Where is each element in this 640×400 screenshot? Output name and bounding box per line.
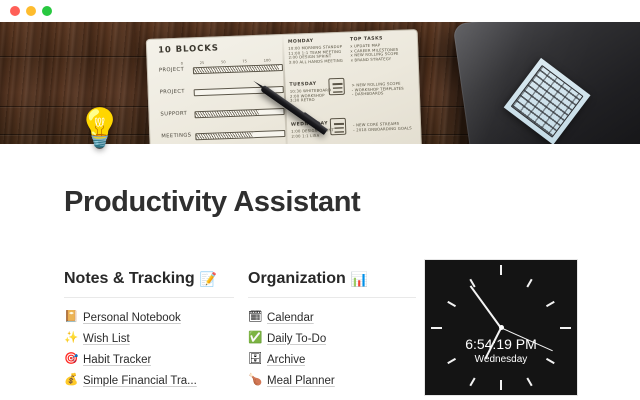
scale-tick: 50 bbox=[221, 60, 226, 65]
clock-minute-hand bbox=[470, 285, 502, 328]
list-item-label[interactable]: Daily To-Do bbox=[267, 333, 326, 345]
notebook-right-page: MONDAY 10:00 MORNING STANDUP 11:00 1:1 T… bbox=[288, 33, 416, 144]
light-bulb-icon: 💡 bbox=[76, 110, 123, 148]
clock-tick-12 bbox=[500, 265, 502, 275]
planner-notebook: 10 BLOCKS 0 25 50 75 100 PROJECT PROJECT… bbox=[146, 29, 423, 144]
task-line: - 2018 ONBOARDING GOALS bbox=[353, 126, 415, 133]
list-item-simple-financial-tracker[interactable]: 💰 Simple Financial Tra... bbox=[64, 370, 234, 391]
list-item-label[interactable]: Archive bbox=[267, 354, 305, 366]
top-tasks: TOP TASKS x UPDATE MAP x CAREER MILESTON… bbox=[350, 35, 413, 63]
row-bar bbox=[194, 108, 284, 118]
list-item-meal-planner[interactable]: 🍗 Meal Planner bbox=[248, 370, 416, 391]
clock-time-readout: 6:54:19 PM bbox=[425, 336, 577, 352]
window-minimize-button[interactable] bbox=[26, 6, 36, 16]
clock-tick-3 bbox=[560, 327, 571, 329]
section-heading: Organization 📊 bbox=[248, 270, 416, 288]
section-divider bbox=[64, 297, 234, 298]
row-label: MEETINGS bbox=[161, 132, 191, 139]
list-item-wish-list[interactable]: ✨ Wish List bbox=[64, 328, 234, 349]
sparkles-icon: ✨ bbox=[64, 333, 77, 345]
list-item-label[interactable]: Calendar bbox=[267, 312, 314, 324]
window-close-button[interactable] bbox=[10, 6, 20, 16]
list-item-personal-notebook[interactable]: 📔 Personal Notebook bbox=[64, 307, 234, 328]
clock-tick-2 bbox=[546, 300, 555, 306]
scale-tick: 75 bbox=[242, 59, 247, 64]
notebook-title: 10 BLOCKS bbox=[158, 43, 219, 55]
scale-tick: 25 bbox=[200, 61, 205, 66]
row-label: PROJECT bbox=[160, 89, 185, 96]
list-item-label[interactable]: Wish List bbox=[83, 333, 130, 345]
notebook-icon: 📔 bbox=[64, 312, 77, 324]
row-label: SUPPORT bbox=[160, 111, 187, 118]
poultry-leg-icon: 🍗 bbox=[248, 375, 261, 387]
clock-tick-1 bbox=[526, 278, 532, 287]
list-item-label[interactable]: Habit Tracker bbox=[83, 354, 151, 366]
clock-day-readout: Wednesday bbox=[425, 354, 577, 365]
row-label: PROJECT bbox=[159, 67, 184, 74]
memo-icon: 📝 bbox=[200, 272, 217, 286]
task-group-3: - NEW CORE STREAMS - 2018 ONBOARDING GOA… bbox=[353, 121, 415, 132]
row-bar bbox=[195, 130, 285, 140]
schedule-line: 3:00 ALL HANDS MEETING bbox=[289, 59, 345, 66]
clock-center-pivot bbox=[499, 325, 504, 330]
list-item-archive[interactable]: 🗄 Archive bbox=[248, 349, 416, 370]
clock-tick-6 bbox=[500, 380, 502, 390]
window-titlebar bbox=[0, 0, 640, 22]
section-title-organization: Organization bbox=[248, 270, 346, 288]
target-icon: 🎯 bbox=[64, 354, 77, 366]
calendar-icon: 🗓 bbox=[248, 312, 261, 324]
bar-chart-icon: 📊 bbox=[351, 272, 368, 286]
list-item-habit-tracker[interactable]: 🎯 Habit Tracker bbox=[64, 349, 234, 370]
list-item-daily-to-do[interactable]: ✅ Daily To-Do bbox=[248, 328, 416, 349]
section-notes-tracking: Notes & Tracking 📝 📔 Personal Notebook ✨… bbox=[64, 270, 234, 391]
list-item-label[interactable]: Personal Notebook bbox=[83, 312, 181, 324]
task-line: - DASHBOARDS bbox=[352, 90, 414, 97]
list-item-label[interactable]: Meal Planner bbox=[267, 375, 335, 387]
section-title-notes-tracking: Notes & Tracking bbox=[64, 270, 195, 288]
clock-tick-9 bbox=[431, 327, 442, 329]
clock-tick-10 bbox=[447, 300, 456, 306]
list-item-label[interactable]: Simple Financial Tra... bbox=[83, 375, 197, 387]
file-cabinet-icon: 🗄 bbox=[248, 354, 261, 366]
schedule-line: 3:30 RETRO bbox=[290, 97, 346, 104]
tasks-heading: TOP TASKS bbox=[350, 35, 412, 42]
task-line: x BRAND STRATEGY bbox=[351, 56, 413, 63]
check-mark-icon: ✅ bbox=[248, 333, 261, 345]
money-bag-icon: 💰 bbox=[64, 375, 77, 387]
notebook-doodle bbox=[328, 78, 345, 96]
clock-tick-5 bbox=[526, 377, 532, 386]
page-title: Productivity Assistant bbox=[64, 186, 360, 219]
section-organization: Organization 📊 🗓 Calendar ✅ Daily To-Do … bbox=[248, 270, 416, 391]
laptop-illustration bbox=[453, 22, 640, 144]
schedule-monday: MONDAY 10:00 MORNING STANDUP 11:00 1:1 T… bbox=[288, 38, 345, 65]
section-divider bbox=[248, 297, 416, 298]
clock-tick-7 bbox=[469, 377, 475, 386]
scale-tick: 100 bbox=[264, 58, 271, 63]
list-item-calendar[interactable]: 🗓 Calendar bbox=[248, 307, 416, 328]
task-group-2: > NEW ROLLING SCOPE - WORKSHOP TEMPLATES… bbox=[352, 81, 414, 97]
section-heading: Notes & Tracking 📝 bbox=[64, 270, 234, 288]
organization-list: 🗓 Calendar ✅ Daily To-Do 🗄 Archive 🍗 Mea… bbox=[248, 307, 416, 391]
notes-tracking-list: 📔 Personal Notebook ✨ Wish List 🎯 Habit … bbox=[64, 307, 234, 391]
notebook-doodle bbox=[330, 118, 347, 136]
analog-clock-widget: 6:54:19 PM Wednesday bbox=[425, 260, 577, 395]
window-maximize-button[interactable] bbox=[42, 6, 52, 16]
